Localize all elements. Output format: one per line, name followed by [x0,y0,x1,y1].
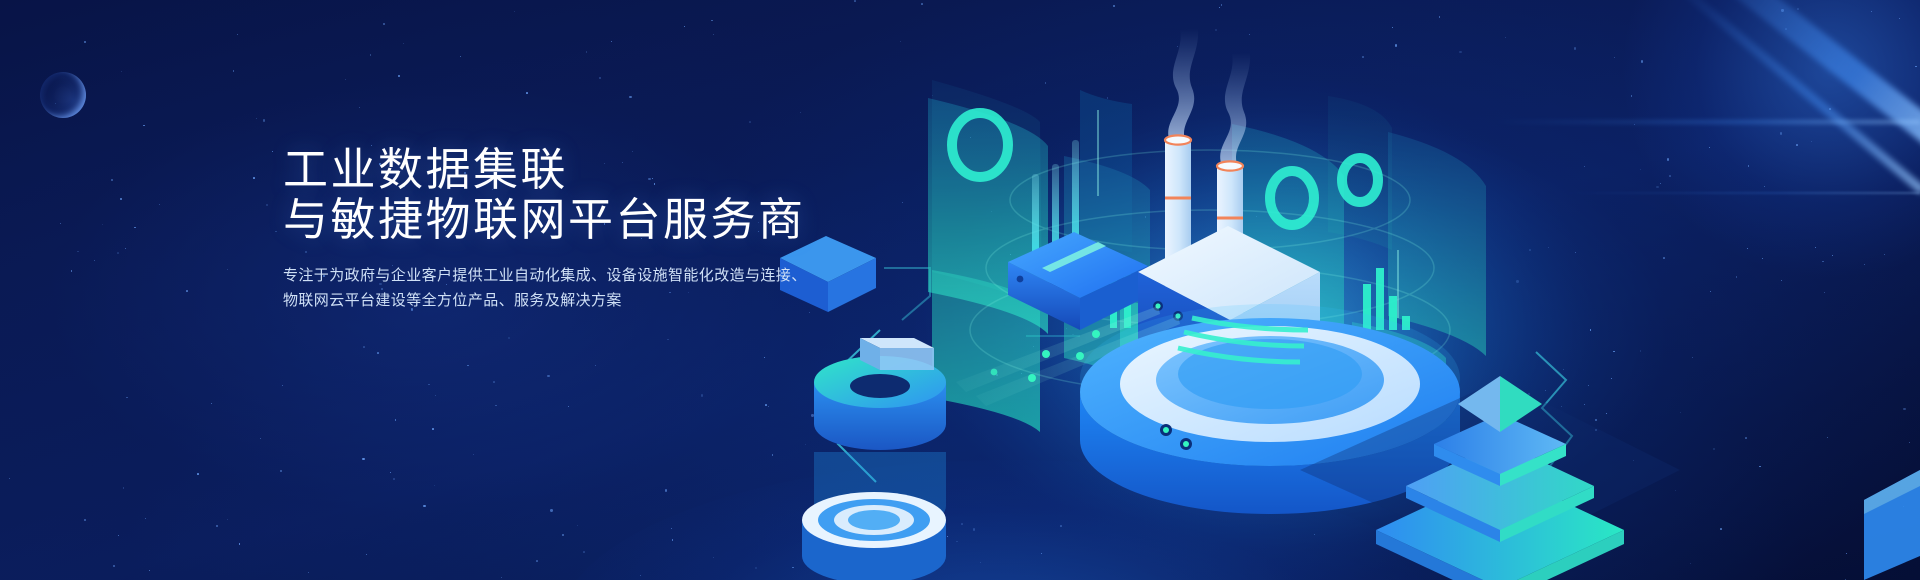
subtitle-line-2: 物联网云平台建设等全方位产品、服务及解决方案 [283,288,903,313]
radar-disc [802,492,946,580]
headline-line-1: 工业数据集联 [283,145,903,195]
hero-illustration [780,0,1920,580]
subtitle-line-1: 专注于为政府与企业客户提供工业自动化集成、设备设施智能化改造与连接、 [283,263,903,288]
moon-crescent-icon [40,72,86,118]
hero-text-block: 工业数据集联 与敏捷物联网平台服务商 专注于为政府与企业客户提供工业自动化集成、… [283,145,903,313]
headline-line-2: 与敏捷物联网平台服务商 [283,195,903,245]
hero-banner: 工业数据集联 与敏捷物联网平台服务商 专注于为政府与企业客户提供工业自动化集成、… [0,0,1920,580]
partial-cube-right [1864,470,1920,580]
